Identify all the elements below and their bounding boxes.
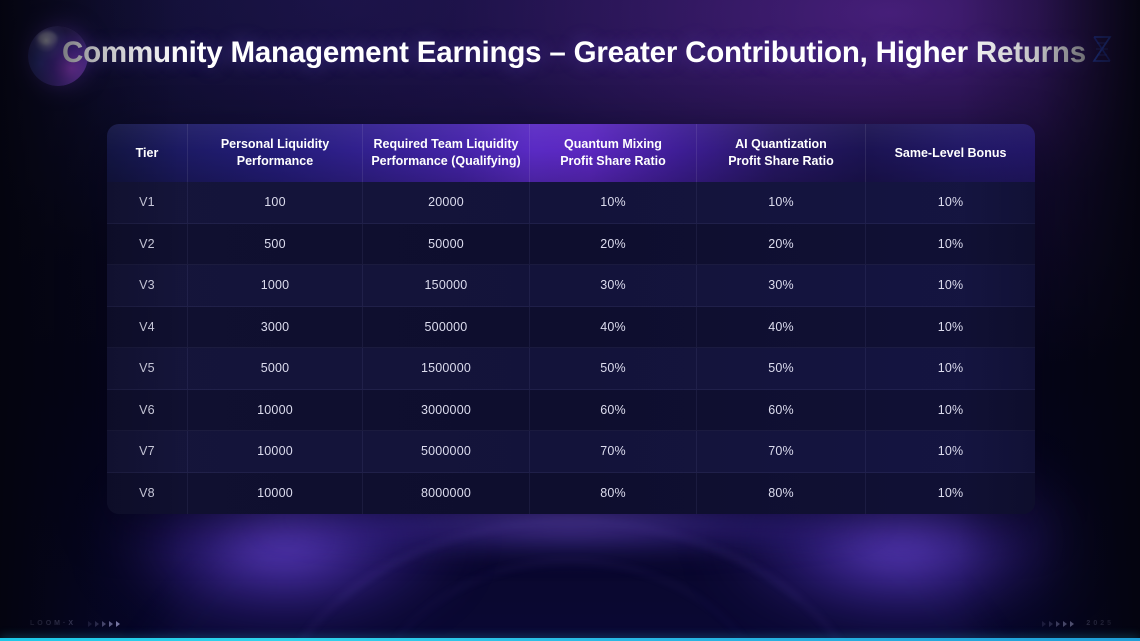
table-row[interactable]: V3100015000030%30%10% <box>107 265 1035 307</box>
cell-ai-quantization: 40% <box>697 307 866 348</box>
cell-ai-quantization: 30% <box>697 265 866 306</box>
cell-tier: V7 <box>107 431 188 472</box>
cell-tier: V1 <box>107 182 188 223</box>
column-header-team-liquidity-line1: Required Team Liquidity <box>374 137 519 151</box>
cell-same-level-bonus: 10% <box>866 265 1035 306</box>
column-header-same-level-bonus: Same-Level Bonus <box>866 124 1035 182</box>
column-header-ai-quantization-line2: Profit Share Ratio <box>728 154 834 168</box>
table-row[interactable]: V11002000010%10%10% <box>107 182 1035 224</box>
x-hourglass-icon <box>1090 34 1114 64</box>
cell-team-liquidity: 3000000 <box>363 390 530 431</box>
footer-year: 2025 <box>1086 620 1114 627</box>
column-header-personal-liquidity-line2: Performance <box>237 154 313 168</box>
cell-personal-liquidity: 10000 <box>188 431 363 472</box>
chevron-right-icon <box>88 621 92 627</box>
cell-quantum-mixing: 70% <box>530 431 697 472</box>
cell-personal-liquidity: 10000 <box>188 390 363 431</box>
cell-ai-quantization: 50% <box>697 348 866 389</box>
chevron-right-icon <box>1056 621 1060 627</box>
chevron-right-icon <box>109 621 113 627</box>
cell-tier: V6 <box>107 390 188 431</box>
cell-personal-liquidity: 1000 <box>188 265 363 306</box>
cell-ai-quantization: 20% <box>697 224 866 265</box>
cell-personal-liquidity: 10000 <box>188 473 363 515</box>
cell-quantum-mixing: 10% <box>530 182 697 223</box>
cell-team-liquidity: 1500000 <box>363 348 530 389</box>
column-header-ai-quantization-line1: AI Quantization <box>735 137 827 151</box>
cell-quantum-mixing: 30% <box>530 265 697 306</box>
cell-team-liquidity: 5000000 <box>363 431 530 472</box>
slide-root: Community Management Earnings – Greater … <box>0 0 1140 641</box>
cell-personal-liquidity: 3000 <box>188 307 363 348</box>
footer-brand: LOOM·X <box>30 620 76 627</box>
cell-ai-quantization: 80% <box>697 473 866 515</box>
table-row[interactable]: V810000800000080%80%10% <box>107 473 1035 515</box>
cell-personal-liquidity: 500 <box>188 224 363 265</box>
cell-tier: V8 <box>107 473 188 515</box>
chevron-right-icon <box>1042 621 1046 627</box>
column-header-quantum-mixing-line1: Quantum Mixing <box>564 137 662 151</box>
cell-ai-quantization: 70% <box>697 431 866 472</box>
cell-ai-quantization: 10% <box>697 182 866 223</box>
table-body: V11002000010%10%10%V25005000020%20%10%V3… <box>107 182 1035 514</box>
column-header-quantum-mixing-line2: Profit Share Ratio <box>560 154 666 168</box>
column-header-ai-quantization: AI Quantization Profit Share Ratio <box>697 124 866 182</box>
earnings-table: Tier Personal Liquidity Performance Requ… <box>107 124 1035 514</box>
cell-tier: V4 <box>107 307 188 348</box>
table-row[interactable]: V710000500000070%70%10% <box>107 431 1035 473</box>
footer-right: 2025 <box>1042 620 1114 627</box>
chevron-right-icon <box>102 621 106 627</box>
column-header-quantum-mixing: Quantum Mixing Profit Share Ratio <box>530 124 697 182</box>
table-row[interactable]: V4300050000040%40%10% <box>107 307 1035 349</box>
cell-same-level-bonus: 10% <box>866 182 1035 223</box>
cell-quantum-mixing: 40% <box>530 307 697 348</box>
table-row[interactable]: V55000150000050%50%10% <box>107 348 1035 390</box>
column-header-team-liquidity: Required Team Liquidity Performance (Qua… <box>363 124 530 182</box>
column-header-tier-line1: Tier <box>136 146 159 160</box>
cell-same-level-bonus: 10% <box>866 431 1035 472</box>
table-header-row: Tier Personal Liquidity Performance Requ… <box>107 124 1035 182</box>
cell-team-liquidity: 8000000 <box>363 473 530 515</box>
cell-team-liquidity: 500000 <box>363 307 530 348</box>
slide-header: Community Management Earnings – Greater … <box>0 0 1140 108</box>
cell-same-level-bonus: 10% <box>866 348 1035 389</box>
column-header-personal-liquidity-line1: Personal Liquidity <box>221 137 329 151</box>
column-header-personal-liquidity: Personal Liquidity Performance <box>188 124 363 182</box>
page-title: Community Management Earnings – Greater … <box>62 36 1086 70</box>
cell-same-level-bonus: 10% <box>866 307 1035 348</box>
cell-same-level-bonus: 10% <box>866 224 1035 265</box>
cell-quantum-mixing: 60% <box>530 390 697 431</box>
chevron-right-icon <box>116 621 120 627</box>
column-header-team-liquidity-line2: Performance (Qualifying) <box>371 154 520 168</box>
cell-team-liquidity: 50000 <box>363 224 530 265</box>
cell-personal-liquidity: 5000 <box>188 348 363 389</box>
footer-chevrons-right <box>1042 621 1074 627</box>
chevron-right-icon <box>1070 621 1074 627</box>
cell-tier: V2 <box>107 224 188 265</box>
cell-tier: V3 <box>107 265 188 306</box>
cell-ai-quantization: 60% <box>697 390 866 431</box>
cell-team-liquidity: 150000 <box>363 265 530 306</box>
cell-personal-liquidity: 100 <box>188 182 363 223</box>
footer-left: LOOM·X <box>30 620 120 627</box>
cell-quantum-mixing: 50% <box>530 348 697 389</box>
chevron-right-icon <box>95 621 99 627</box>
cell-quantum-mixing: 20% <box>530 224 697 265</box>
cell-same-level-bonus: 10% <box>866 473 1035 515</box>
chevron-right-icon <box>1049 621 1053 627</box>
footer-chevrons-left <box>88 621 120 627</box>
cell-quantum-mixing: 80% <box>530 473 697 515</box>
table-row[interactable]: V610000300000060%60%10% <box>107 390 1035 432</box>
cell-tier: V5 <box>107 348 188 389</box>
cell-same-level-bonus: 10% <box>866 390 1035 431</box>
cell-team-liquidity: 20000 <box>363 182 530 223</box>
column-header-tier: Tier <box>107 124 188 182</box>
column-header-same-level-bonus-line1: Same-Level Bonus <box>895 146 1007 160</box>
chevron-right-icon <box>1063 621 1067 627</box>
table-row[interactable]: V25005000020%20%10% <box>107 224 1035 266</box>
